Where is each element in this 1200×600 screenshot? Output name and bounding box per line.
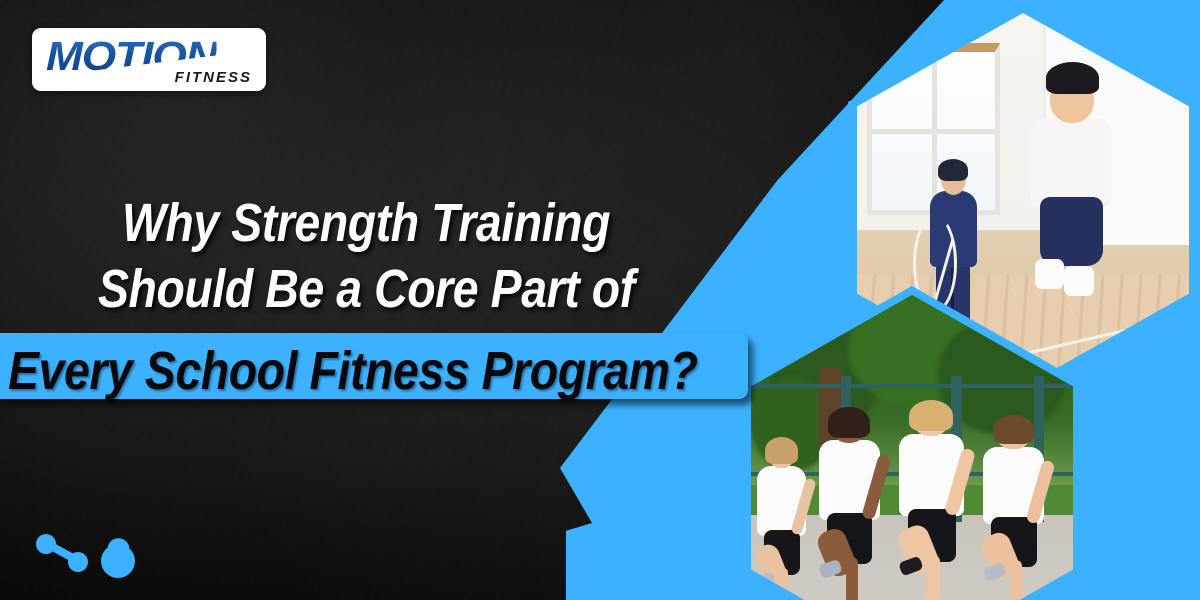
headline-line-3: Every School Fitness Program? [8, 338, 698, 404]
brand-logo[interactable]: MOTION FITNESS [32, 28, 266, 91]
equipment-icons-svg [34, 530, 164, 582]
kettlebell-icon [101, 538, 135, 578]
student-exercising [819, 412, 880, 600]
headline-line-1: Why Strength Training [122, 190, 688, 256]
dumbbell-icon [36, 534, 88, 572]
headline-block: Why Strength Training Should Be a Core P… [0, 190, 780, 322]
child-jumping [1030, 62, 1113, 309]
student-exercising [757, 441, 805, 600]
logo-tagline-text: FITNESS [175, 69, 252, 86]
student-exercising [899, 405, 963, 600]
fitness-banner: MOTION FITNESS Why Strength Training Sho… [0, 0, 1200, 600]
headline-line-2: Should Be a Core Part of [98, 256, 685, 322]
student-exercising [983, 419, 1044, 600]
equipment-icon-group [34, 530, 164, 582]
